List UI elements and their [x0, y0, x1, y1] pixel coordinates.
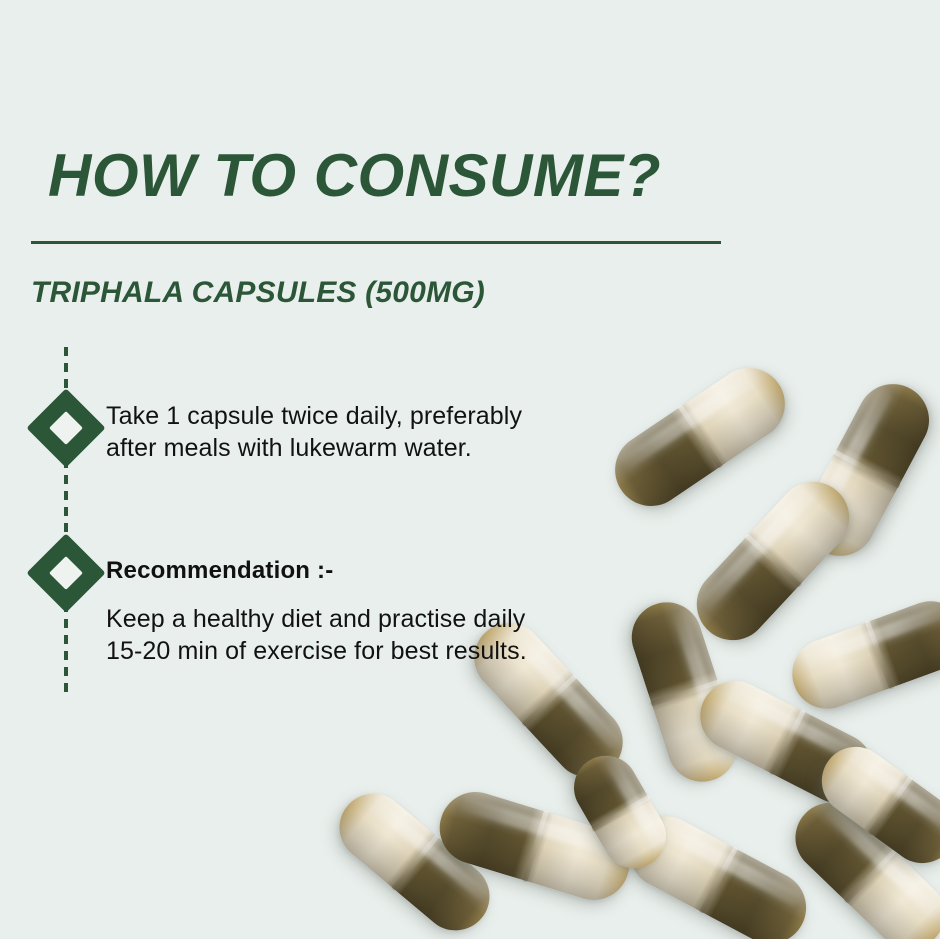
diamond-bullet-icon-1	[26, 388, 105, 467]
capsule-pill	[808, 733, 940, 876]
capsule-pill	[325, 780, 503, 939]
capsule-pill	[688, 669, 885, 815]
capsule-pill	[601, 354, 799, 520]
capsule-pill	[782, 591, 940, 718]
diamond-bullet-icon-2	[26, 533, 105, 612]
product-subtitle: TRIPHALA CAPSULES (500MG)	[31, 278, 485, 308]
capsule-pill	[622, 593, 746, 791]
step-2-line-2: 15-20 min of exercise for best results.	[106, 635, 527, 667]
page-title: HOW TO CONSUME?	[48, 146, 661, 206]
step-2-text: Keep a healthy diet and practise daily 1…	[106, 603, 527, 667]
poster-canvas: HOW TO CONSUME? TRIPHALA CAPSULES (500MG…	[0, 0, 940, 939]
step-1-text: Take 1 capsule twice daily, preferably a…	[106, 400, 522, 464]
capsule-pill	[430, 783, 638, 909]
capsule-pill	[781, 788, 940, 939]
capsule-photo-backdrop	[0, 0, 940, 939]
title-divider	[31, 241, 721, 244]
diamond-inner-shape	[49, 556, 83, 590]
capsule-pill	[682, 467, 864, 655]
step-2-line-1: Keep a healthy diet and practise daily	[106, 603, 527, 635]
capsule-pill	[562, 744, 677, 880]
capsule-pill	[617, 804, 819, 939]
step-1-line-1: Take 1 capsule twice daily, preferably	[106, 400, 522, 432]
step-1-line-2: after meals with lukewarm water.	[106, 432, 522, 464]
step-2-heading: Recommendation :-	[106, 557, 333, 586]
capsule-pill	[791, 371, 940, 568]
diamond-inner-shape	[49, 411, 83, 445]
